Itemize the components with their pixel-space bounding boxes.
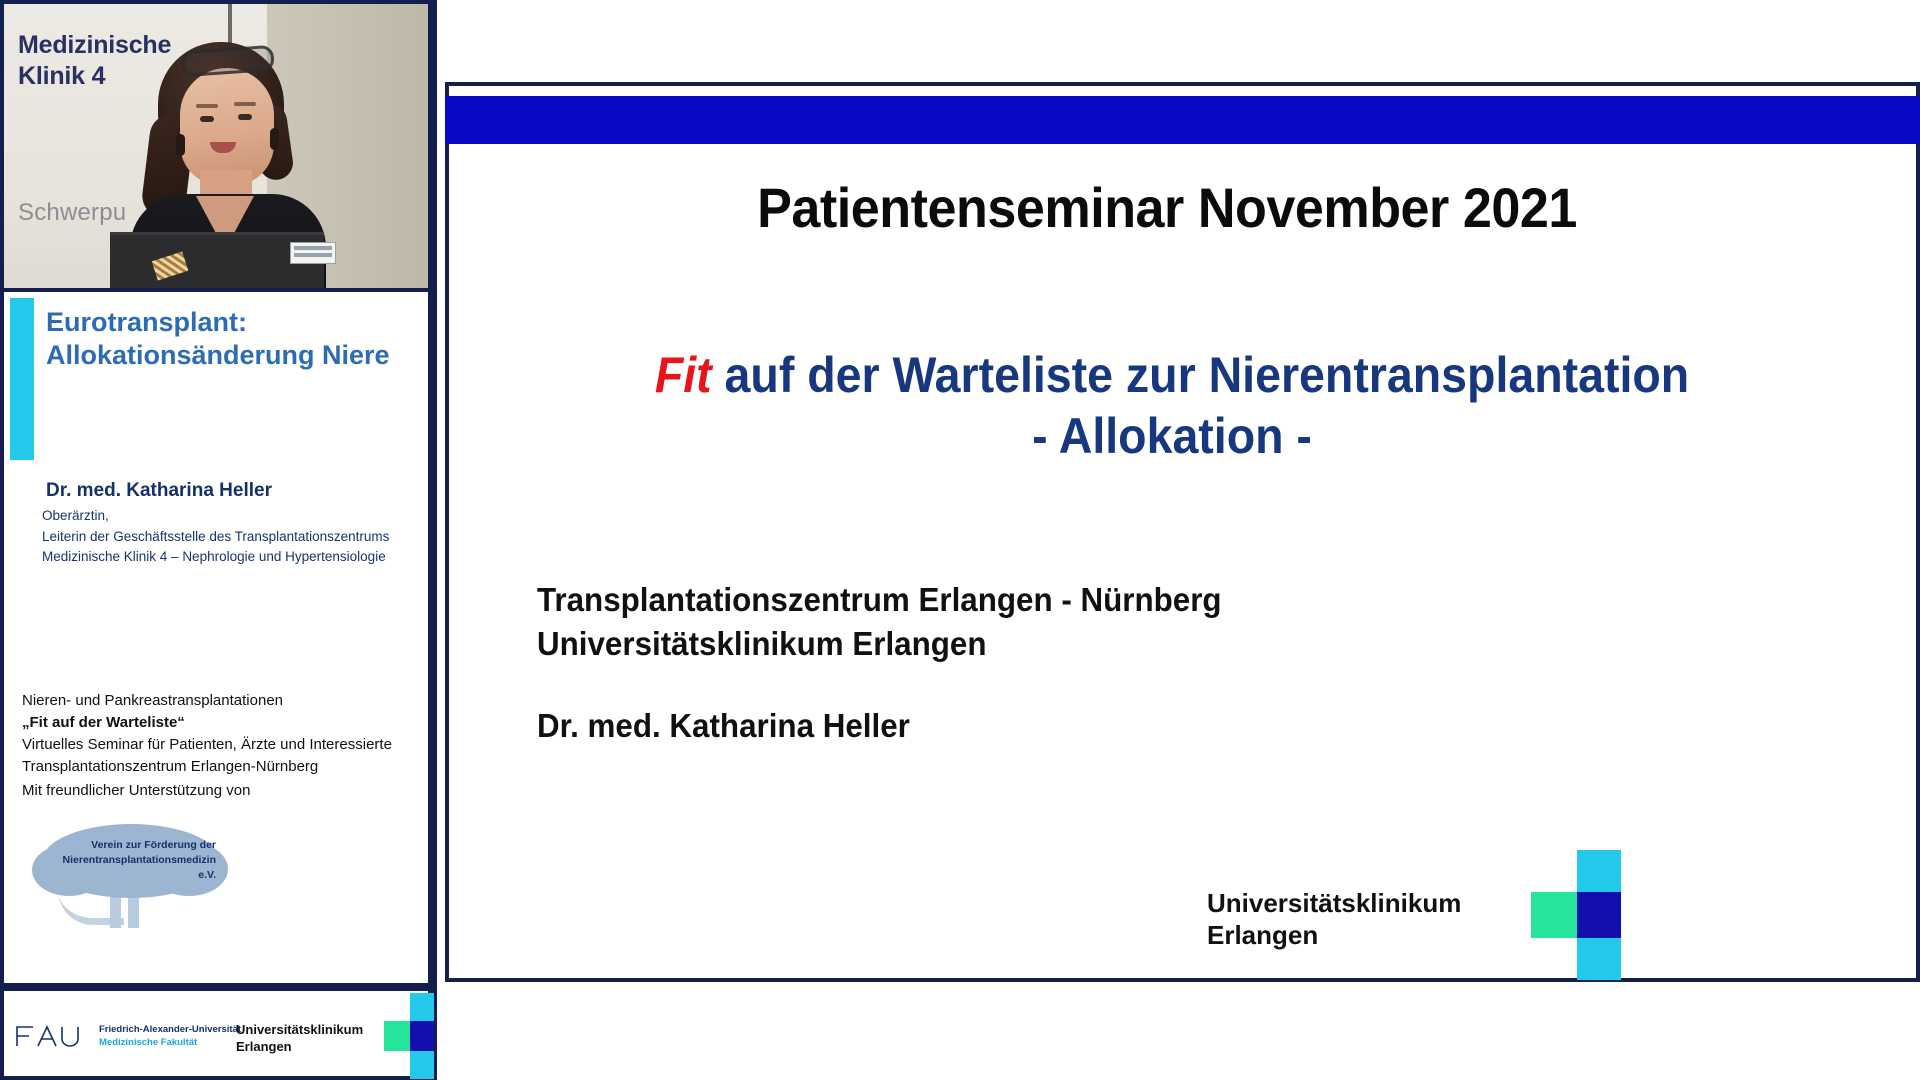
uk-wordmark-main: Universitätsklinikum Erlangen	[1207, 888, 1461, 951]
poster-line-2: Klinik 4	[18, 62, 105, 90]
fau-logo-icon	[14, 1023, 92, 1049]
sponsor-logo: Verein zur Förderung der Nierentransplan…	[32, 822, 232, 932]
uk-cross-icon-main	[1547, 850, 1621, 980]
earring-right	[270, 128, 279, 150]
slide-body: Transplantationszentrum Erlangen - Nürnb…	[537, 578, 1582, 748]
fau-line-2: Medizinische Fakultät	[99, 1037, 241, 1050]
slide-subtitle-line-2: - Allokation -	[488, 406, 1855, 467]
brow-left	[196, 104, 218, 108]
slide-subtitle-highlight: Fit	[655, 347, 712, 403]
left-slide-panel: Eurotransplant: Allokationsänderung Nier…	[0, 292, 432, 987]
uk-line-2-main: Erlangen	[1207, 920, 1461, 952]
brow-right	[234, 102, 256, 106]
uk-cross-icon-small	[396, 993, 434, 1079]
uk-line-1-main: Universitätsklinikum	[1207, 888, 1461, 920]
body-line-2: Universitätsklinikum Erlangen	[537, 622, 1582, 666]
seminar-info: Nieren- und Pankreastransplantationen „F…	[22, 690, 422, 778]
sponsor-line-3: e.V.	[54, 868, 216, 883]
left-logo-strip: Friedrich-Alexander-Universität Medizini…	[0, 987, 432, 1080]
earring-left	[176, 134, 185, 156]
main-slide-area: Patientenseminar November 2021 Fit auf d…	[437, 0, 1920, 1080]
presentation-viewer: Medizinische Klinik 4 Schwerpu	[0, 0, 1920, 1080]
seminar-line-1: Nieren- und Pankreastransplantationen	[22, 690, 422, 712]
role-line-1: Oberärztin,	[42, 506, 422, 527]
body-line-3: Dr. med. Katharina Heller	[537, 704, 1582, 748]
sponsor-line-2: Nierentransplantationsmedizin	[54, 853, 216, 868]
uk-line-1-small: Universitätsklinikum	[236, 1022, 363, 1039]
slide-subtitle: Fit auf der Warteliste zur Nierentranspl…	[488, 345, 1855, 467]
uk-line-2-small: Erlangen	[236, 1039, 363, 1056]
role-line-2: Leiterin der Geschäftsstelle des Transpl…	[42, 527, 422, 548]
role-line-3: Medizinische Klinik 4 – Nephrologie und …	[42, 547, 422, 568]
slide-subtitle-rest: auf der Warteliste zur Nierentransplanta…	[712, 347, 1690, 403]
fau-line-1: Friedrich-Alexander-Universität	[99, 1024, 241, 1037]
support-line: Mit freundlicher Unterstützung von	[22, 782, 250, 799]
seminar-line-3: Virtuelles Seminar für Patienten, Ärzte …	[22, 734, 422, 756]
body-spacer	[537, 666, 1582, 704]
slide-title: Patientenseminar November 2021	[488, 175, 1846, 240]
sponsor-line-1: Verein zur Förderung der	[54, 838, 216, 853]
poster-subtitle: Schwerpu	[18, 199, 126, 227]
accent-bar	[10, 298, 34, 460]
fau-wordmark: Friedrich-Alexander-Universität Medizini…	[99, 1024, 241, 1050]
slide-subtitle-line-1: Fit auf der Warteliste zur Nierentranspl…	[488, 345, 1855, 406]
eye-left	[200, 116, 214, 122]
seminar-line-2: „Fit auf der Warteliste“	[22, 712, 422, 734]
eye-right	[238, 114, 252, 120]
body-line-1: Transplantationszentrum Erlangen - Nürnb…	[537, 578, 1582, 622]
speaker-video[interactable]: Medizinische Klinik 4 Schwerpu	[0, 0, 432, 292]
uk-wordmark-small: Universitätsklinikum Erlangen	[236, 1022, 363, 1055]
sponsor-text: Verein zur Förderung der Nierentransplan…	[54, 838, 216, 884]
left-slide-author: Dr. med. Katharina Heller	[46, 480, 272, 502]
left-slide-heading: Eurotransplant: Allokationsänderung Nier…	[46, 306, 418, 372]
slide-header-bar	[445, 96, 1920, 144]
left-column: Medizinische Klinik 4 Schwerpu	[0, 0, 437, 1080]
left-slide-roles: Oberärztin, Leiterin der Geschäftsstelle…	[42, 506, 422, 568]
seminar-line-4: Transplantationszentrum Erlangen-Nürnber…	[22, 756, 422, 778]
laptop-label	[290, 242, 336, 264]
face	[180, 68, 274, 186]
